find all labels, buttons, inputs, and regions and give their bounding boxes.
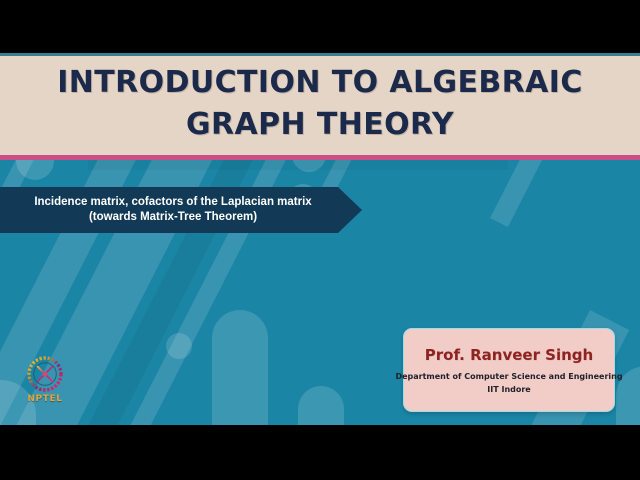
slide-content-frame: INTRODUCTION TO ALGEBRAIC GRAPH THEORY I… bbox=[0, 53, 640, 425]
header-bottom-rule bbox=[0, 155, 640, 160]
topic-banner-text: Incidence matrix, cofactors of the Lapla… bbox=[26, 195, 329, 225]
lecture-title-slide: INTRODUCTION TO ALGEBRAIC GRAPH THEORY I… bbox=[0, 0, 640, 480]
header-top-rule bbox=[0, 53, 640, 56]
page-title: INTRODUCTION TO ALGEBRAIC GRAPH THEORY bbox=[0, 62, 640, 146]
letterbox-bar-top bbox=[0, 0, 640, 53]
nptel-logo: NPTEL bbox=[20, 353, 70, 409]
presenter-institute: IIT Indore bbox=[487, 383, 530, 396]
nptel-emblem-icon bbox=[20, 353, 70, 395]
letterbox-bar-bottom bbox=[0, 425, 640, 480]
presenter-department: Department of Computer Science and Engin… bbox=[395, 370, 622, 383]
decorative-pill bbox=[298, 386, 344, 425]
page-title-line-1: INTRODUCTION TO ALGEBRAIC bbox=[0, 62, 640, 104]
presenter-name: Prof. Ranveer Singh bbox=[425, 345, 593, 365]
presenter-card: Prof. Ranveer Singh Department of Comput… bbox=[403, 328, 615, 412]
page-title-line-2: GRAPH THEORY bbox=[0, 104, 640, 146]
topic-line-2: (towards Matrix-Tree Theorem) bbox=[34, 210, 311, 225]
topic-banner: Incidence matrix, cofactors of the Lapla… bbox=[0, 187, 362, 233]
decorative-stripe bbox=[490, 160, 558, 227]
decorative-circle bbox=[166, 333, 192, 359]
decorative-pill bbox=[212, 310, 268, 425]
decorative-pill bbox=[88, 160, 508, 170]
topic-line-1: Incidence matrix, cofactors of the Lapla… bbox=[34, 195, 311, 210]
title-band: INTRODUCTION TO ALGEBRAIC GRAPH THEORY bbox=[0, 53, 640, 155]
nptel-wordmark: NPTEL bbox=[20, 394, 70, 404]
